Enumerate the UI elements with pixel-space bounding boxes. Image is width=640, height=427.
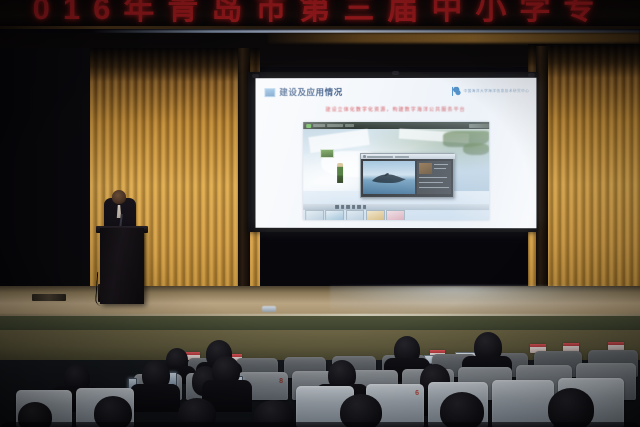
screen-mount-center-icon xyxy=(392,71,399,75)
slide-title: 建设及应用情况 xyxy=(279,86,342,98)
beam-warm-highlight xyxy=(268,33,640,43)
app-3d-viewport xyxy=(303,129,489,191)
terrain-signboard xyxy=(320,149,334,158)
front-row-silhouette xyxy=(0,422,640,427)
slide-subtitle: 建设立体化数字化资源，构建数字海洋公共服务平台 xyxy=(255,106,536,113)
slide-institution-logo: 中国海洋大学海洋信息技术研究中心 xyxy=(452,87,529,96)
terrain-ridge xyxy=(308,129,369,153)
dolphin-icon xyxy=(371,172,407,185)
titlebar-label xyxy=(395,155,409,157)
slide-title-row: 建设及应用情况 xyxy=(264,86,342,98)
toolbar-chip xyxy=(313,124,325,128)
seat[interactable] xyxy=(492,380,554,427)
filmstrip-thumbnail[interactable] xyxy=(366,210,385,220)
toolbar-chip xyxy=(327,124,343,128)
titlebar-label xyxy=(367,155,393,157)
screen-mount-right-icon xyxy=(528,73,535,77)
filmstrip-thumbnail[interactable] xyxy=(386,210,405,220)
slide-embedded-screenshot xyxy=(303,122,489,220)
presenter-head xyxy=(112,190,126,204)
taskbar-item[interactable] xyxy=(363,205,366,209)
app-filmstrip xyxy=(305,210,405,219)
desk-device-accent xyxy=(530,344,546,347)
window-dot-icon xyxy=(363,155,365,157)
institution-logo-icon xyxy=(452,87,461,96)
slide-bullet-icon xyxy=(264,88,275,97)
video-info-panel xyxy=(417,161,451,194)
led-banner: 016年青岛市第三届中小学专 xyxy=(0,0,640,26)
info-line xyxy=(419,187,449,188)
taskbar-item[interactable] xyxy=(357,205,360,209)
stage-floor-object xyxy=(262,306,276,312)
desk-device-accent xyxy=(430,350,445,353)
taskbar-item[interactable] xyxy=(346,205,349,209)
info-line xyxy=(419,177,447,178)
seat-number: 6 xyxy=(415,390,419,397)
taskbar-item[interactable] xyxy=(352,205,355,209)
video-player-area[interactable] xyxy=(363,161,415,194)
curtain-top-shadow xyxy=(88,48,260,82)
record-green-icon xyxy=(306,124,311,128)
toolbar-right-field xyxy=(469,124,489,128)
audience-area: 8 6 xyxy=(0,330,640,427)
stage-floor-cable-strip xyxy=(32,294,66,301)
avatar-figure xyxy=(337,163,343,183)
video-popup-titlebar xyxy=(361,154,455,159)
info-line xyxy=(419,182,443,183)
desk-device-accent xyxy=(563,343,579,346)
filmstrip-thumbnail[interactable] xyxy=(346,210,365,220)
taskbar-item[interactable] xyxy=(335,205,338,208)
stage-left-dark-wall xyxy=(0,48,90,298)
lectern xyxy=(100,228,144,304)
audience-shoulders xyxy=(130,384,180,412)
seat-number: 8 xyxy=(279,378,283,385)
toolbar-chip xyxy=(345,124,354,128)
filmstrip-thumbnail[interactable] xyxy=(305,210,324,220)
video-thumbnail[interactable] xyxy=(419,163,432,174)
led-pixel-grid xyxy=(0,0,640,26)
info-line xyxy=(434,164,448,165)
desk-device-accent xyxy=(186,352,200,355)
banner-bottom-edge xyxy=(0,26,640,29)
auditorium-photo: 016年青岛市第三届中小学专 建设及应用情况 中国海洋大学海洋信息技术研究中心 xyxy=(0,0,640,427)
video-popup-window[interactable] xyxy=(360,153,454,198)
taskbar-item[interactable] xyxy=(341,205,344,209)
filmstrip-thumbnail[interactable] xyxy=(325,210,344,220)
info-line xyxy=(434,168,446,169)
institution-logo-text: 中国海洋大学海洋信息技术研究中心 xyxy=(464,89,530,94)
projection-screen-surface: 建设及应用情况 中国海洋大学海洋信息技术研究中心 建设立体化数字化资源，构建数字… xyxy=(255,78,536,228)
desk-device-accent xyxy=(608,342,624,345)
terrain-vegetation xyxy=(463,143,489,155)
